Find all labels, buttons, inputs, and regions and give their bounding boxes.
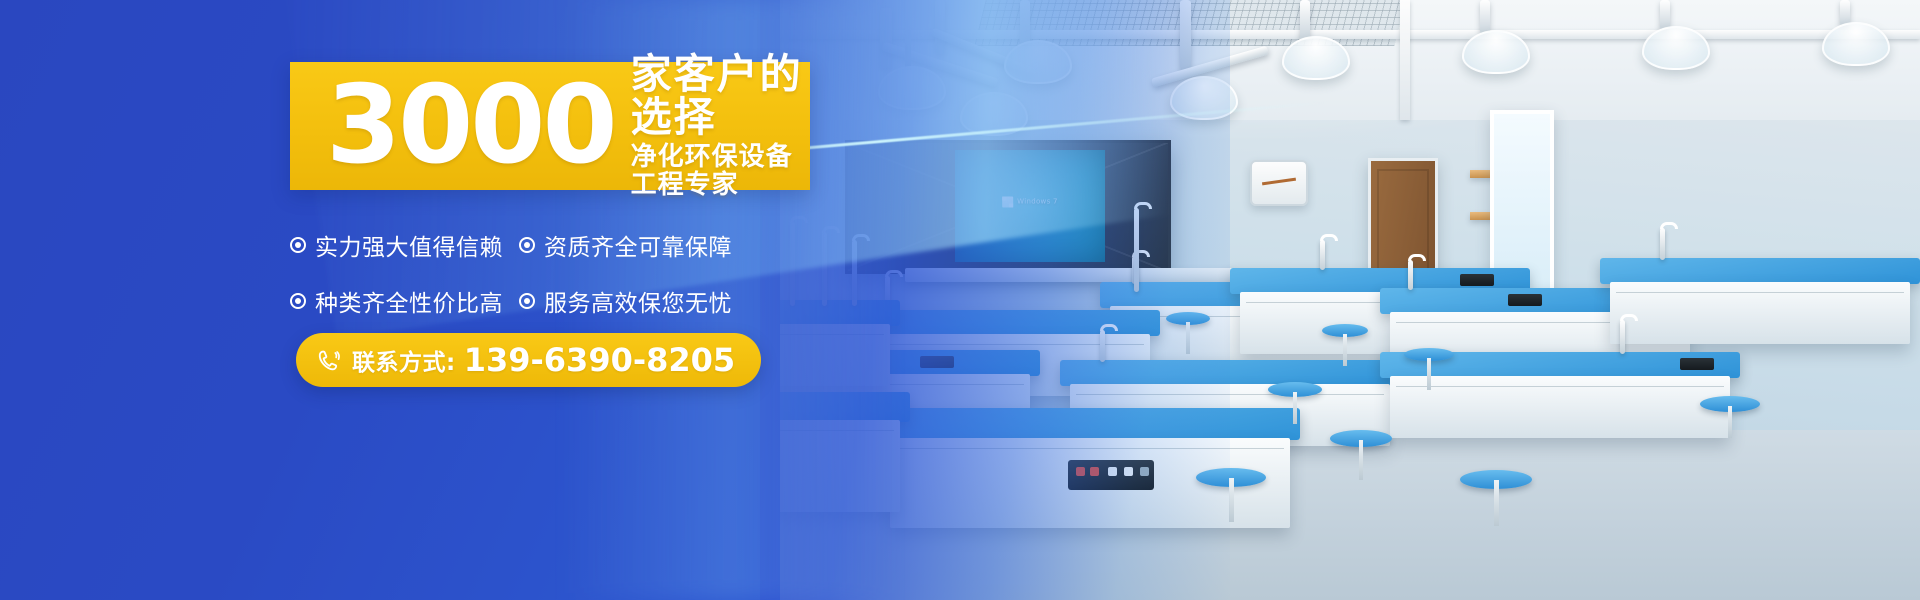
contact-phone-number: 139-6390-8205 (464, 341, 735, 379)
promo-banner: Windows 7 (0, 0, 1920, 600)
feature-label: 实力强大值得信赖 (315, 228, 503, 262)
bullet-dot-icon (519, 293, 535, 309)
feature-item-2: 资质齐全可靠保障 (519, 228, 810, 262)
headline-primary: 家客户的选择 (631, 53, 810, 139)
feature-item-4: 服务高效保您无忧 (519, 284, 810, 318)
headline-badge: 3000 家客户的选择 净化环保设备工程专家 (290, 62, 810, 190)
phone-icon (316, 347, 342, 373)
banner-content: 3000 家客户的选择 净化环保设备工程专家 实力强大值得信赖 资质齐全可靠保障… (0, 0, 900, 600)
customer-count: 3000 (326, 76, 615, 175)
headline-text-group: 家客户的选择 净化环保设备工程专家 (631, 53, 810, 199)
contact-phone-button[interactable]: 联系方式: 139-6390-8205 (296, 333, 761, 387)
feature-label: 种类齐全性价比高 (315, 284, 503, 318)
contact-label: 联系方式: (352, 343, 456, 377)
feature-label: 资质齐全可靠保障 (544, 228, 732, 262)
feature-item-1: 实力强大值得信赖 (290, 228, 505, 262)
feature-list: 实力强大值得信赖 资质齐全可靠保障 种类齐全性价比高 服务高效保您无忧 (290, 228, 810, 318)
headline-secondary: 净化环保设备工程专家 (631, 144, 810, 199)
feature-item-3: 种类齐全性价比高 (290, 284, 505, 318)
bullet-dot-icon (290, 293, 306, 309)
bullet-dot-icon (290, 237, 306, 253)
bullet-dot-icon (519, 237, 535, 253)
feature-label: 服务高效保您无忧 (544, 284, 732, 318)
